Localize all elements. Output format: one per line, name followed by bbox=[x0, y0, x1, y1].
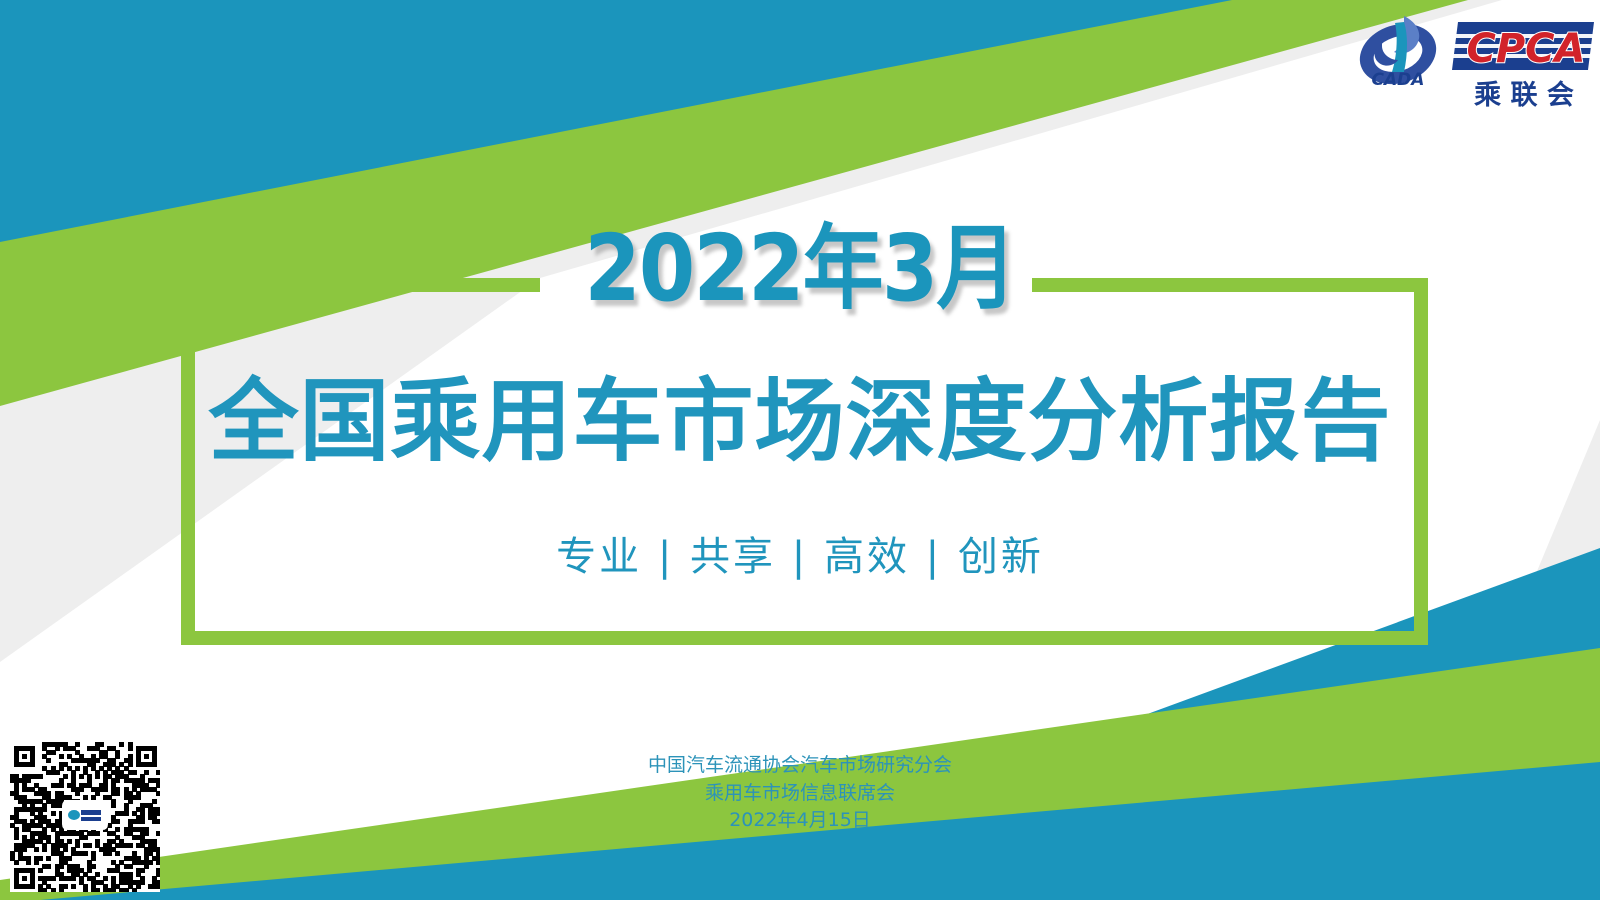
cpca-banner-icon: CPCA 乘 联 会 bbox=[1452, 22, 1594, 111]
title-frame-bottom-edge bbox=[181, 631, 1428, 645]
slide-canvas: 2022年3月 全国乘用车市场深度分析报告 专业 | 共享 | 高效 | 创新 … bbox=[0, 0, 1600, 900]
footer-line-committee: 乘用车市场信息联席会 bbox=[0, 780, 1600, 808]
tagline: 专业 | 共享 | 高效 | 创新 bbox=[0, 524, 1600, 582]
footer-line-organization: 中国汽车流通协会汽车市场研究分会 bbox=[0, 752, 1600, 780]
report-date-heading: 2022年3月 bbox=[96, 223, 1504, 315]
footer-line-date: 2022年4月15日 bbox=[0, 807, 1600, 835]
qr-code-icon[interactable] bbox=[10, 742, 160, 892]
cada-wordmark: CADA bbox=[1372, 70, 1425, 90]
footer-block: 中国汽车流通协会汽车市场研究分会 乘用车市场信息联席会 2022年4月15日 bbox=[0, 752, 1600, 835]
cpca-chinese-wordmark: 乘 联 会 bbox=[1473, 80, 1574, 111]
page-title: 全国乘用车市场深度分析报告 bbox=[0, 375, 1600, 469]
cada-swoosh-icon: CADA bbox=[1352, 14, 1444, 93]
cpca-cada-logo: CADA CPCA 乘 联 会 bbox=[1352, 8, 1594, 112]
cpca-wordmark: CPCA bbox=[1467, 26, 1586, 72]
